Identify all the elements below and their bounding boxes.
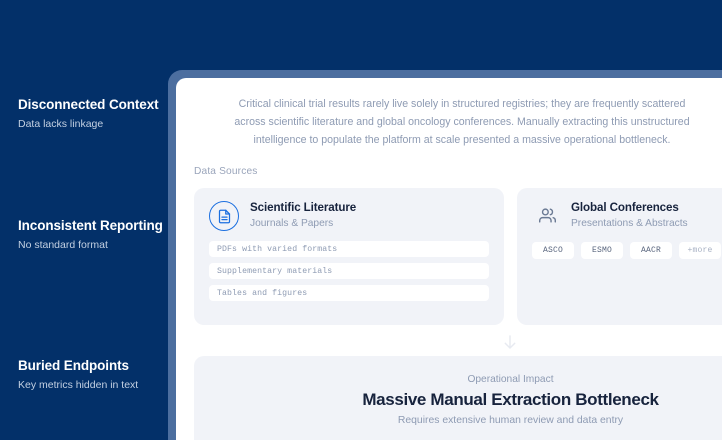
source-card-scientific-literature[interactable]: Scientific Literature Journals & Papers … [194,188,504,325]
conference-tag-list: ASCO ESMO AACR +more [517,230,722,259]
source-card-global-conferences[interactable]: Global Conferences Presentations & Abstr… [517,188,722,325]
impact-subtitle: Requires extensive human review and data… [194,414,722,428]
card-header: Global Conferences Presentations & Abstr… [517,188,722,230]
list-item[interactable]: PDFs with varied formats [209,241,489,257]
card-subtitle: Journals & Papers [250,217,356,230]
sidebar-item-title: Inconsistent Reporting [18,218,168,235]
card-title-group: Global Conferences Presentations & Abstr… [571,201,688,230]
conference-tag-esmo[interactable]: ESMO [581,242,623,259]
intro-line: across scientific literature and global … [190,113,722,131]
impact-title: Massive Manual Extraction Bottleneck [194,389,722,410]
document-icon [209,201,239,231]
card-row-list: PDFs with varied formats Supplementary m… [194,231,504,301]
intro-line: Critical clinical trial results rarely l… [190,95,722,113]
sidebar-item-buried-endpoints[interactable]: Buried Endpoints Key metrics hidden in t… [18,358,168,392]
users-icon [534,203,560,229]
sidebar-item-subtitle: No standard format [18,238,168,252]
sidebar-item-inconsistent-reporting[interactable]: Inconsistent Reporting No standard forma… [18,218,168,252]
intro-paragraph: Critical clinical trial results rarely l… [176,95,722,149]
sidebar-item-subtitle: Data lacks linkage [18,117,168,131]
card-subtitle: Presentations & Abstracts [571,217,688,230]
intro-line: intelligence to populate the platform at… [190,131,722,149]
card-title-group: Scientific Literature Journals & Papers [250,201,356,230]
sidebar-item-disconnected-context[interactable]: Disconnected Context Data lacks linkage [18,97,168,131]
operational-impact-card: Operational Impact Massive Manual Extrac… [194,356,722,440]
impact-eyebrow: Operational Impact [194,373,722,386]
card-title: Scientific Literature [250,201,356,215]
card-header: Scientific Literature Journals & Papers [194,188,504,231]
sidebar-item-title: Buried Endpoints [18,358,168,375]
data-sources-label: Data Sources [194,166,258,177]
conference-tag-more[interactable]: +more [679,242,721,259]
arrow-down-icon [176,333,722,355]
list-item[interactable]: Tables and figures [209,285,489,301]
conference-tag-asco[interactable]: ASCO [532,242,574,259]
sidebar: Disconnected Context Data lacks linkage … [0,0,168,440]
conference-tag-aacr[interactable]: AACR [630,242,672,259]
list-item[interactable]: Supplementary materials [209,263,489,279]
sidebar-item-subtitle: Key metrics hidden in text [18,378,168,392]
card-title: Global Conferences [571,201,688,215]
main-panel: Critical clinical trial results rarely l… [176,78,722,440]
sidebar-item-title: Disconnected Context [18,97,168,114]
